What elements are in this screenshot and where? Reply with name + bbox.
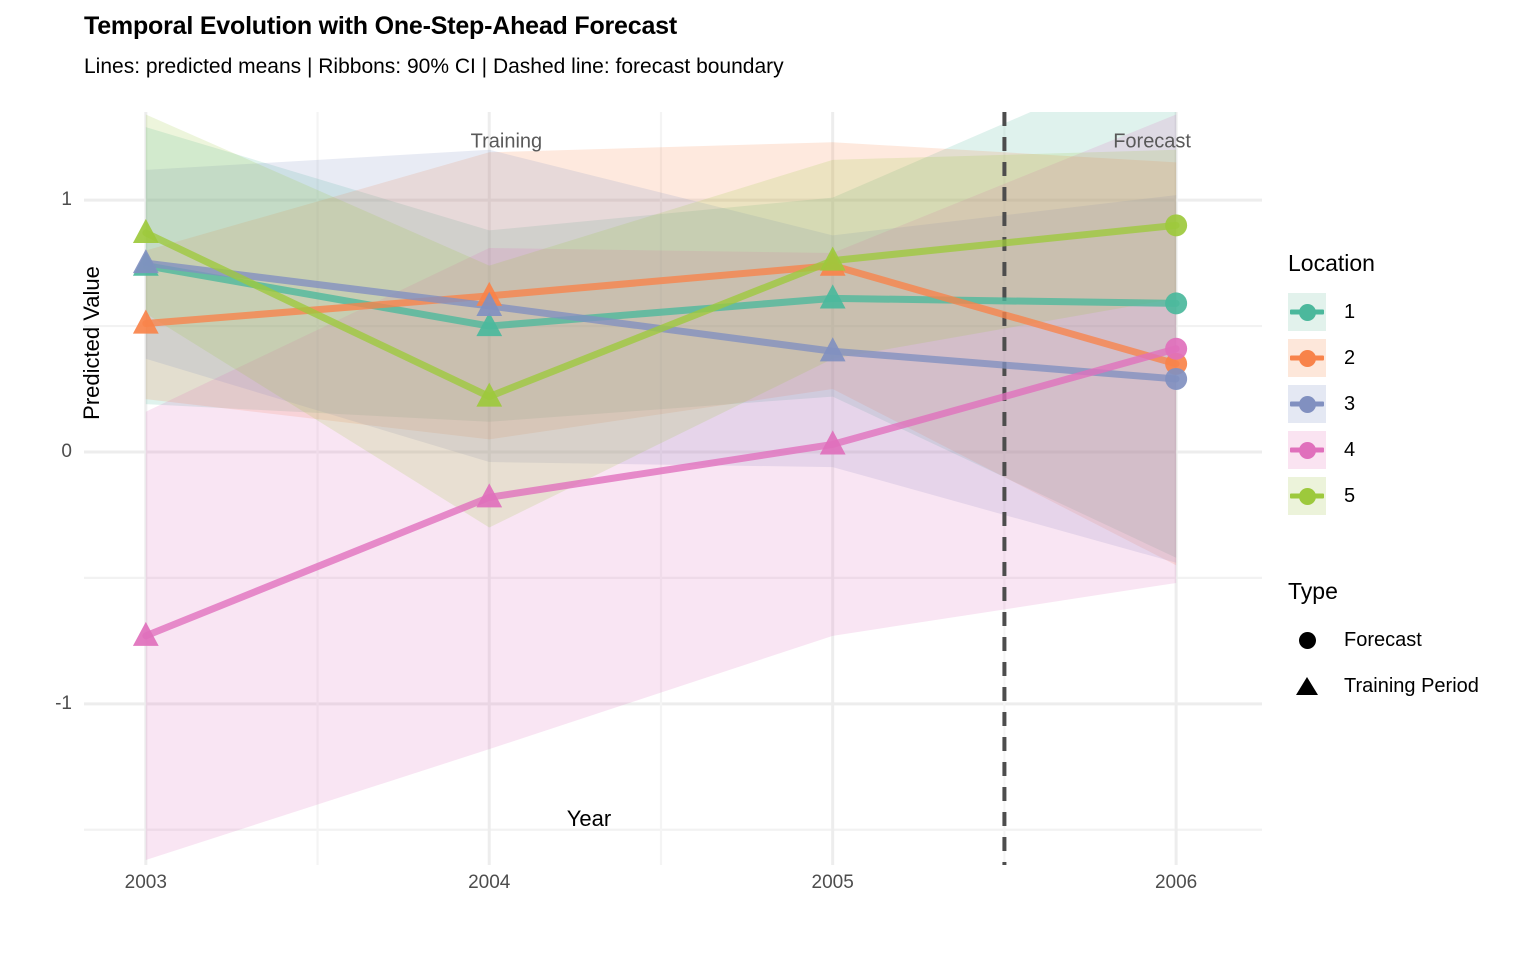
- legend-key-swatch: [1288, 339, 1326, 377]
- legend-key-swatch: [1288, 385, 1326, 423]
- legend-key-swatch: [1288, 293, 1326, 331]
- legend-item-label: 4: [1344, 439, 1355, 462]
- legend-point-icon: [1299, 304, 1316, 321]
- legend-item-type-forecast[interactable]: Forecast: [1288, 617, 1479, 663]
- legend-item-location-1[interactable]: 1: [1288, 289, 1375, 335]
- plot-canvas: [84, 112, 1262, 865]
- annotation-training: Training: [471, 131, 543, 154]
- page-title: Temporal Evolution with One-Step-Ahead F…: [84, 12, 677, 41]
- x-tick-label: 2006: [1155, 872, 1197, 894]
- legend-item-type-training-period[interactable]: Training Period: [1288, 663, 1479, 709]
- legend-point-icon: [1299, 350, 1316, 367]
- legend-type: Type ForecastTraining Period: [1288, 578, 1479, 709]
- y-tick-label: -1: [12, 693, 72, 715]
- legend-shape-key: [1288, 621, 1326, 659]
- page-subtitle: Lines: predicted means | Ribbons: 90% CI…: [84, 55, 784, 79]
- legend-item-location-2[interactable]: 2: [1288, 335, 1375, 381]
- x-axis-label: Year: [0, 806, 1178, 832]
- legend-point-icon: [1299, 396, 1316, 413]
- legend-item-label: Forecast: [1344, 629, 1422, 652]
- legend-type-title: Type: [1288, 578, 1479, 605]
- x-tick-label: 2004: [468, 872, 510, 894]
- legend-shape-key: [1288, 667, 1326, 705]
- point-forecast-location-1[interactable]: [1165, 292, 1187, 314]
- triangle-icon: [1296, 677, 1318, 695]
- point-forecast-location-3[interactable]: [1165, 368, 1187, 390]
- legend-location: Location 12345: [1288, 250, 1375, 519]
- legend-key-swatch: [1288, 431, 1326, 469]
- legend-item-label: 1: [1344, 301, 1355, 324]
- legend-item-location-3[interactable]: 3: [1288, 381, 1375, 427]
- legend-item-label: 2: [1344, 347, 1355, 370]
- chart-page: Temporal Evolution with One-Step-Ahead F…: [0, 0, 1536, 960]
- point-forecast-location-4[interactable]: [1165, 338, 1187, 360]
- y-axis-ticks: 10-1: [12, 112, 72, 865]
- legend-item-label: Training Period: [1344, 675, 1479, 698]
- x-tick-label: 2003: [125, 872, 167, 894]
- x-tick-label: 2005: [812, 872, 854, 894]
- legend-location-title: Location: [1288, 250, 1375, 277]
- circle-icon: [1299, 632, 1316, 649]
- annotation-forecast: Forecast: [1113, 131, 1191, 154]
- point-forecast-location-5[interactable]: [1165, 214, 1187, 236]
- legend-point-icon: [1299, 488, 1316, 505]
- y-axis-label: Predicted Value: [79, 223, 105, 463]
- legend-item-location-5[interactable]: 5: [1288, 473, 1375, 519]
- legend-item-label: 5: [1344, 485, 1355, 508]
- legend-point-icon: [1299, 442, 1316, 459]
- y-tick-label: 0: [12, 441, 72, 463]
- legend-item-location-4[interactable]: 4: [1288, 427, 1375, 473]
- plot-panel: [84, 112, 1262, 865]
- y-tick-label: 1: [12, 189, 72, 211]
- legend-item-label: 3: [1344, 393, 1355, 416]
- legend-key-swatch: [1288, 477, 1326, 515]
